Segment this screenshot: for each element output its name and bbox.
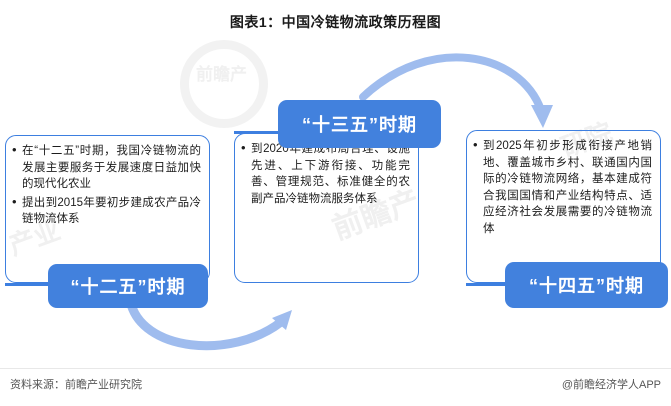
stage-1-bullet-1: 在“十二五”时期，我国冷链物流的发展主要服务于发展速度日益加快的现代化农业 [22,143,201,193]
stage-1-card: 在“十二五”时期，我国冷链物流的发展主要服务于发展速度日益加快的现代化农业 提出… [5,135,210,283]
source-note: 资料来源：前瞻产业研究院 [10,376,142,392]
stage-1-bullet-2: 提出到2015年要初步建成农产品冷链物流体系 [22,195,201,228]
stage-1-label[interactable]: “十二五”时期 [48,264,208,308]
attribution-note: @前瞻经济学人APP [562,376,661,392]
stage-3-card: 到2025年初步形成衔接产地销地、覆盖城市乡村、联通国内国际的冷链物流网络，基本… [466,130,661,283]
stage-2-bullet-1: 到2020年建成布局合理、设施先进、上下游衔接、功能完善、管理规范、标准健全的农… [251,141,410,207]
footer-divider [0,368,671,369]
stage-2-card: 到2020年建成布局合理、设施先进、上下游衔接、功能完善、管理规范、标准健全的农… [234,133,419,283]
page-title: 图表1：中国冷链物流政策历程图 [0,12,671,32]
stage-2-label[interactable]: “十三五”时期 [278,100,441,148]
stage-3-bullet-1: 到2025年初步形成衔接产地销地、覆盖城市乡村、联通国内国际的冷链物流网络，基本… [483,138,652,237]
diagram-canvas: 前瞻产 产业 研院 前瞻产 图表1：中国冷链物流政策历程图 在“十二五”时期，我… [0,0,671,406]
stage-3-label[interactable]: “十四五”时期 [505,262,668,308]
